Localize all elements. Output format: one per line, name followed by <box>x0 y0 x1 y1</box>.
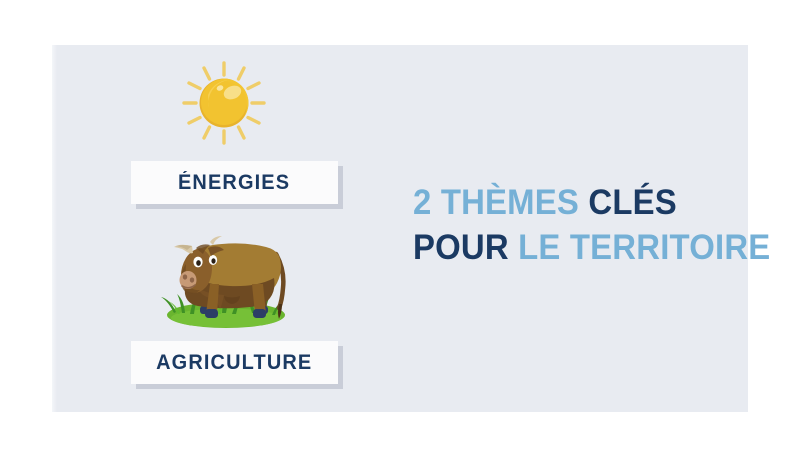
cow-hoof <box>253 309 266 318</box>
cow-horn <box>210 236 222 245</box>
energies-card-label: ÉNERGIES <box>178 171 290 195</box>
headline-line1-part1: 2 THÈMES <box>413 183 579 222</box>
panel-left-edge-highlight <box>52 45 57 412</box>
agriculture-card[interactable]: AGRICULTURE <box>131 341 338 384</box>
sun-illustration <box>178 57 270 149</box>
cow-illustration <box>152 218 300 336</box>
cow-hoof <box>205 309 218 318</box>
agriculture-card-label: AGRICULTURE <box>156 351 312 375</box>
headline-line-2: POUR LE TERRITOIRE <box>413 225 723 270</box>
headline-line2-part2: LE TERRITOIRE <box>518 228 770 267</box>
energies-card[interactable]: ÉNERGIES <box>131 161 338 204</box>
headline-line2-part1: POUR <box>413 228 509 267</box>
headline-line-1: 2 THÈMES CLÉS <box>413 180 723 225</box>
slide-canvas: ÉNERGIES AGRICULTURE 2 THÈMES CLÉS POUR … <box>0 0 800 449</box>
headline-line1-part2: CLÉS <box>588 183 677 222</box>
headline: 2 THÈMES CLÉS POUR LE TERRITOIRE <box>413 180 743 270</box>
sun-icon <box>178 57 270 149</box>
cow-icon <box>152 218 300 336</box>
